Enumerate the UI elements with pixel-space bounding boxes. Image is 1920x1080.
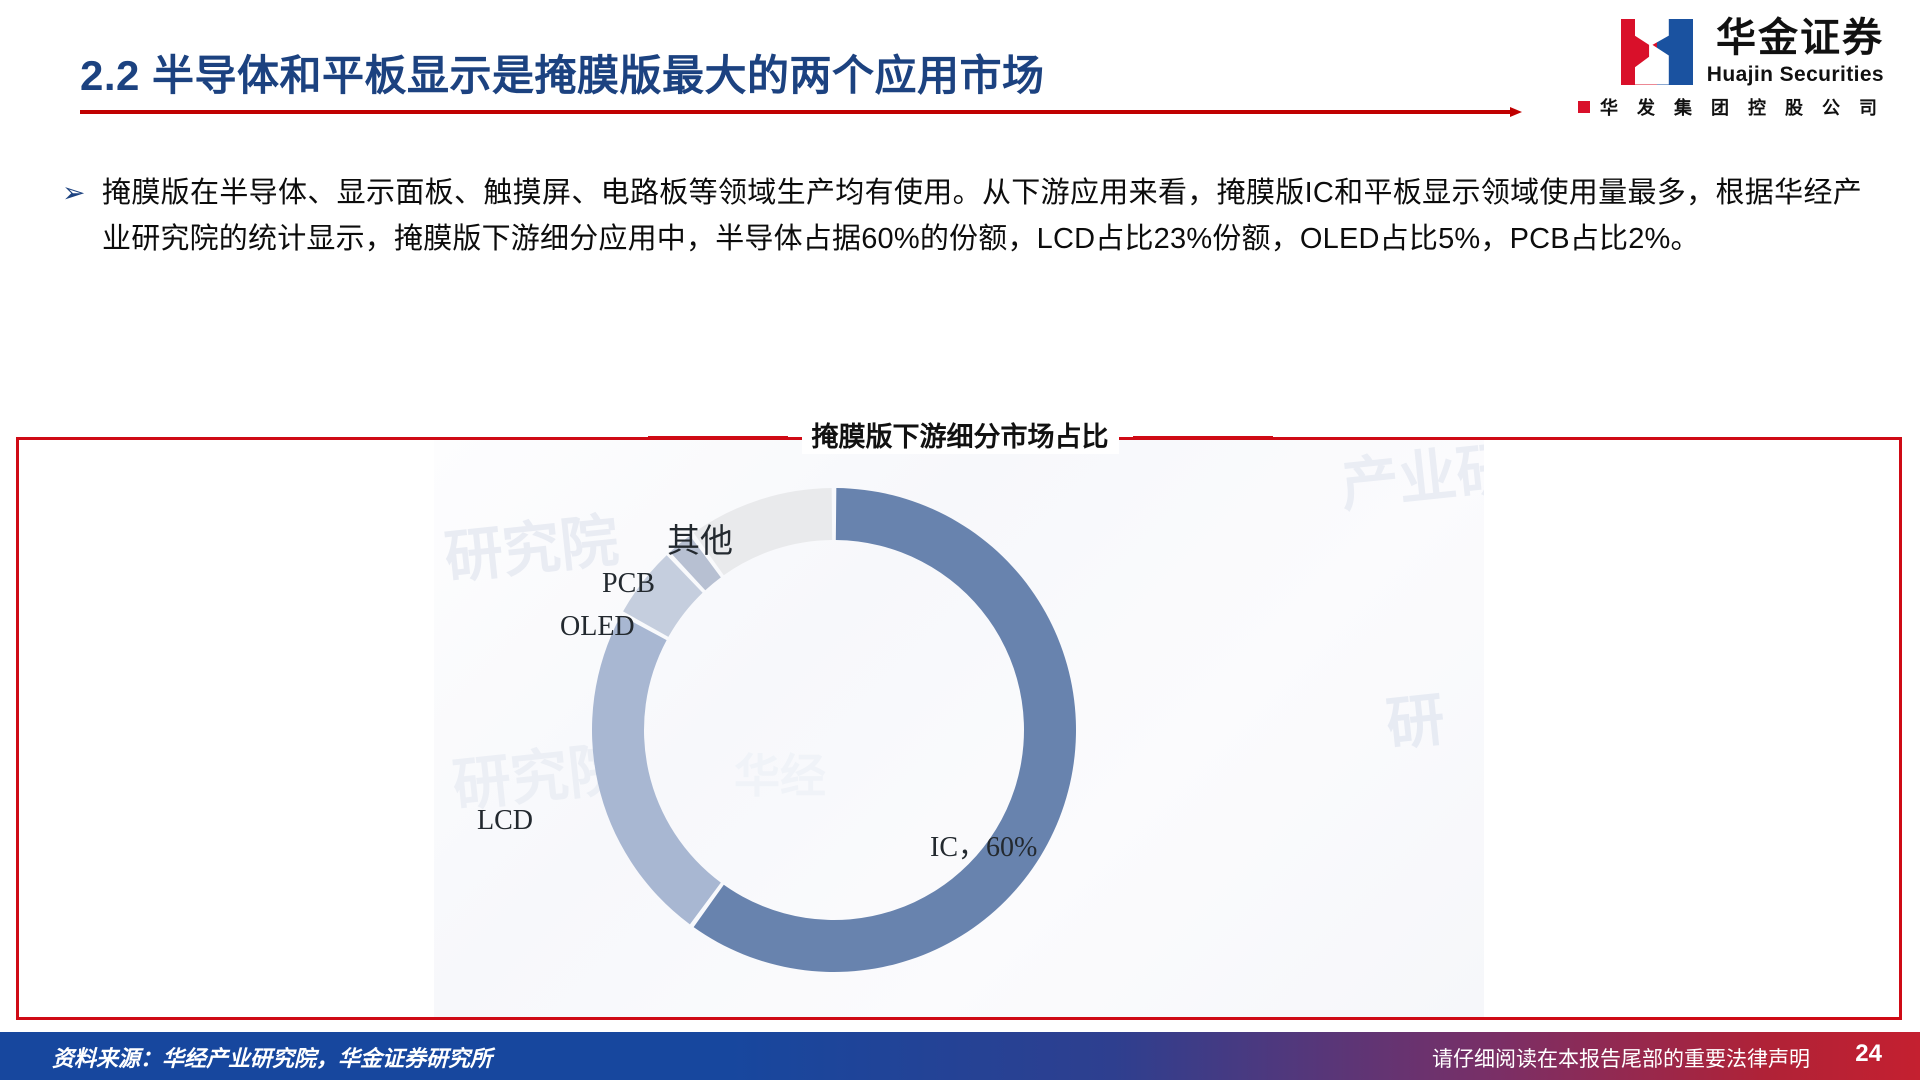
chart-container: 研究院 研究院 产业研 研 华经 其他 PCB OLED LCD IC，60%	[16, 437, 1902, 1020]
donut-slice-ic	[694, 488, 1076, 972]
disclaimer-note: 请仔细阅读在本报告尾部的重要法律声明	[1432, 1043, 1810, 1073]
logo-text-block: 华金证券 Huajin Securities	[1707, 18, 1884, 85]
chart-image: 研究院 研究院 产业研 研 华经 其他 PCB OLED LCD IC，60%	[434, 440, 1484, 1017]
logo-parent-company: 华 发 集 团 控 股 公 司	[1578, 94, 1884, 120]
slice-label-other: 其他	[667, 514, 733, 562]
huajin-h-mark-icon	[1621, 19, 1693, 85]
slice-label-ic: IC，60%	[930, 825, 1037, 865]
footer-bar: 资料来源：华经产业研究院，华金证券研究所 请仔细阅读在本报告尾部的重要法律声明 …	[0, 1032, 1920, 1080]
bullet-paragraph: 掩膜版在半导体、显示面板、触摸屏、电路板等领域生产均有使用。从下游应用来看，掩膜…	[102, 170, 1862, 262]
logo-row: 华金证券 Huajin Securities	[1578, 18, 1884, 85]
watermark-text: 研	[1382, 672, 1448, 762]
red-square-icon	[1578, 101, 1590, 113]
page-number: 24	[1855, 1040, 1882, 1068]
slice-label-lcd: LCD	[477, 805, 533, 837]
page-title: 2.2 半导体和平板显示是掩膜版最大的两个应用市场	[80, 42, 1045, 103]
slice-label-oled: OLED	[560, 611, 635, 643]
bullet-block: ➢ 掩膜版在半导体、显示面板、触摸屏、电路板等领域生产均有使用。从下游应用来看，…	[62, 170, 1862, 262]
logo-chinese-name: 华金证券	[1707, 18, 1884, 58]
slide-root: 2.2 半导体和平板显示是掩膜版最大的两个应用市场 华金证券 Huajin Se…	[0, 0, 1920, 1080]
watermark-text: 产业研	[1336, 440, 1484, 523]
logo-english-name: Huajin Securities	[1707, 64, 1884, 85]
logo-parent-company-label: 华 发 集 团 控 股 公 司	[1600, 94, 1884, 120]
donut-chart	[574, 470, 1094, 990]
donut-svg	[574, 470, 1094, 990]
brand-logo: 华金证券 Huajin Securities 华 发 集 团 控 股 公 司	[1578, 18, 1884, 120]
source-note: 资料来源：华经产业研究院，华金证券研究所	[52, 1041, 492, 1073]
bullet-arrow-icon: ➢	[62, 170, 102, 216]
slice-label-pcb: PCB	[602, 568, 655, 600]
donut-slice-lcd	[592, 615, 721, 924]
donut-slice-group	[592, 488, 1076, 972]
title-underline	[80, 110, 1510, 114]
